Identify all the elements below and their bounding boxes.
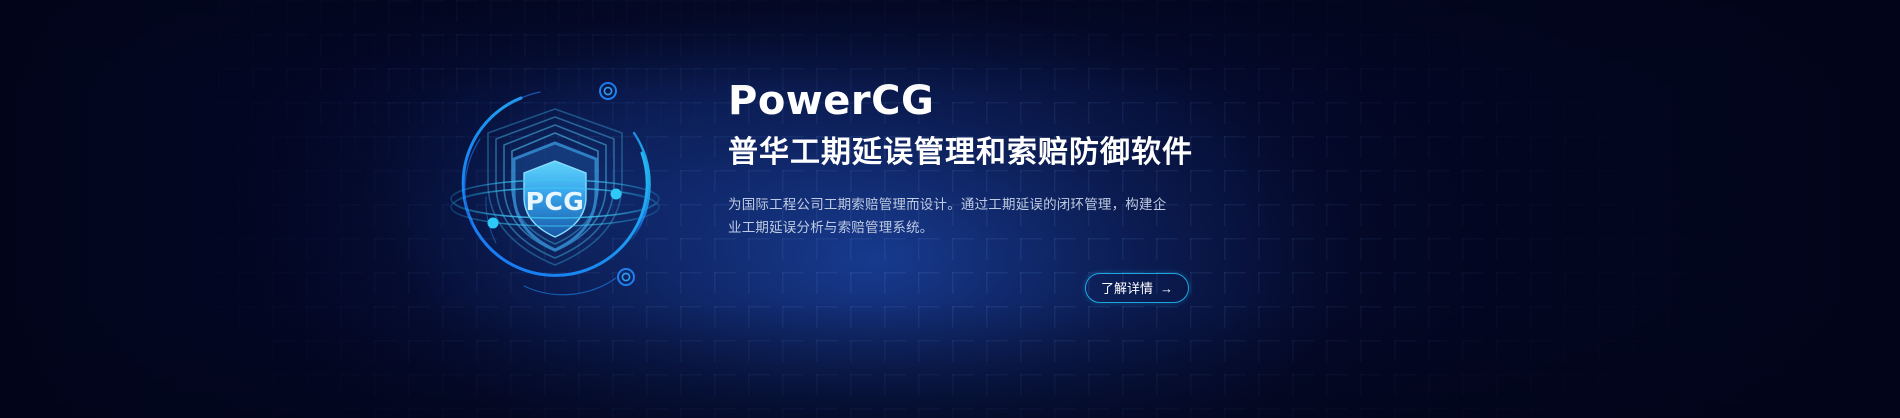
shield-monogram: PCG	[526, 187, 585, 216]
orbit-node-left-icon	[488, 218, 499, 229]
learn-more-label: 了解详情	[1101, 282, 1153, 295]
learn-more-button[interactable]: 了解详情 →	[1085, 273, 1189, 303]
orbit-node-right-icon	[611, 189, 622, 200]
page-title: PowerCG	[728, 78, 1428, 124]
ring-node-bottom-right-icon	[618, 269, 634, 285]
hero-text-block: PowerCG 普华工期延误管理和索赔防御软件 为国际工程公司工期索赔管理而设计…	[728, 78, 1428, 239]
ring-node-top-icon	[600, 83, 616, 99]
page-description: 为国际工程公司工期索赔管理而设计。通过工期延误的闭环管理，构建企业工期延误分析与…	[728, 193, 1176, 239]
pcg-logo: PCG	[420, 47, 690, 317]
powercg-hero-banner: PCG PowerCG 普华工期延误管理和索赔防御软件 为国际工程公司工期索赔管…	[0, 0, 1900, 418]
arrow-right-icon: →	[1160, 282, 1173, 295]
page-subtitle: 普华工期延误管理和索赔防御软件	[728, 133, 1428, 173]
